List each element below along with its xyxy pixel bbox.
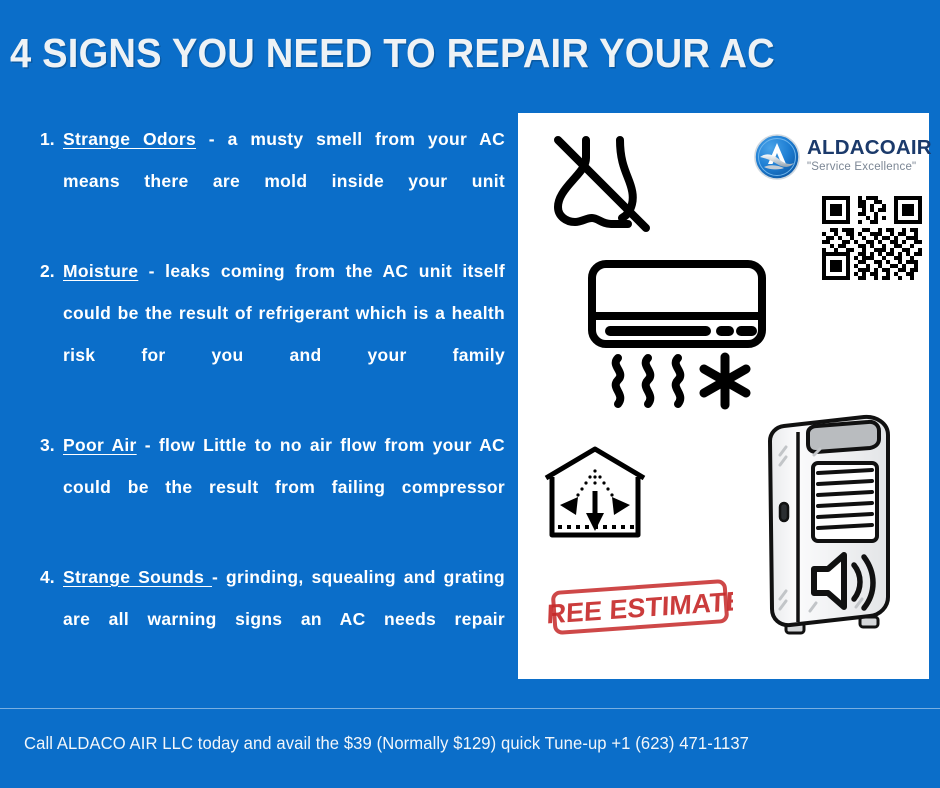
logo-tagline: "Service Excellence" (807, 159, 932, 176)
list-item-lead: Strange Odors (63, 129, 196, 149)
no-smell-nose-icon (542, 128, 672, 238)
list-item: 1. Strange Odors - a musty smell from yo… (40, 118, 505, 244)
graphics-card: ALDACOAIR "Service Excellence" (518, 113, 929, 679)
aldacoair-badge-icon (754, 134, 800, 180)
signs-list: 1. Strange Odors - a musty smell from yo… (40, 118, 505, 688)
house-airflow-icon (538, 443, 653, 545)
logo-company-name: ALDACOAIR (807, 138, 932, 159)
logo-wordmark: ALDACOAIR "Service Excellence" (807, 138, 932, 175)
list-item-lead: Strange Sounds (63, 567, 212, 587)
list-item-text: Poor Air - flow Little to no air flow fr… (63, 424, 505, 550)
page-title: 4 SIGNS YOU NEED TO REPAIR YOUR AC (10, 30, 847, 77)
company-logo: ALDACOAIR "Service Excellence" (754, 126, 926, 188)
list-item: 4. Strange Sounds - grinding, squealing … (40, 556, 505, 682)
list-item-number: 2. (40, 250, 63, 292)
list-item-text: Strange Sounds - grinding, squealing and… (63, 556, 505, 682)
list-item-text: Strange Odors - a musty smell from your … (63, 118, 505, 244)
portable-ac-unit-icon (756, 411, 909, 646)
list-item: 2. Moisture - leaks coming from the AC u… (40, 250, 505, 418)
list-item-text: Moisture - leaks coming from the AC unit… (63, 250, 505, 418)
footer-cta-text: Call ALDACO AIR LLC today and avail the … (24, 733, 879, 754)
list-item-number: 3. (40, 424, 63, 466)
list-item-number: 4. (40, 556, 63, 598)
poster-root: 4 SIGNS YOU NEED TO REPAIR YOUR AC 1. St… (0, 0, 940, 788)
list-item-lead: Moisture (63, 261, 138, 281)
wall-ac-unit-icon (586, 258, 778, 413)
list-item: 3. Poor Air - flow Little to no air flow… (40, 424, 505, 550)
footer-divider (0, 708, 940, 709)
list-item-number: 1. (40, 118, 63, 160)
free-estimate-stamp: FREE ESTIMATE (548, 578, 733, 636)
qr-code[interactable] (822, 196, 922, 280)
list-item-lead: Poor Air (63, 435, 137, 455)
